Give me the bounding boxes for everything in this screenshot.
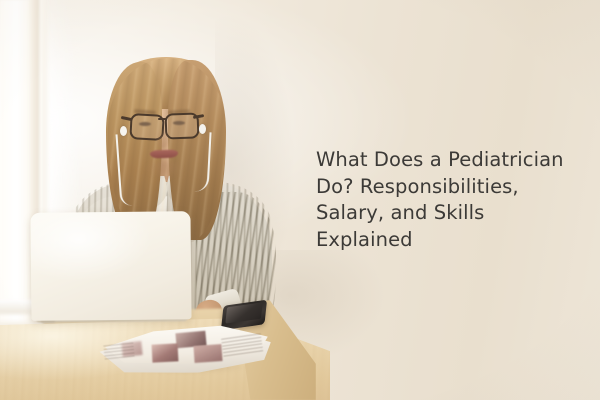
article-title: What Does a Pediatrician Do? Responsibil… (316, 147, 584, 253)
newspaper-photo (193, 344, 222, 363)
newspaper-photo (152, 343, 179, 362)
article-header-image: What Does a Pediatrician Do? Responsibil… (0, 0, 600, 400)
chin-shading (146, 162, 182, 176)
laptop-lid-sheen (30, 211, 191, 321)
nose (157, 130, 168, 148)
